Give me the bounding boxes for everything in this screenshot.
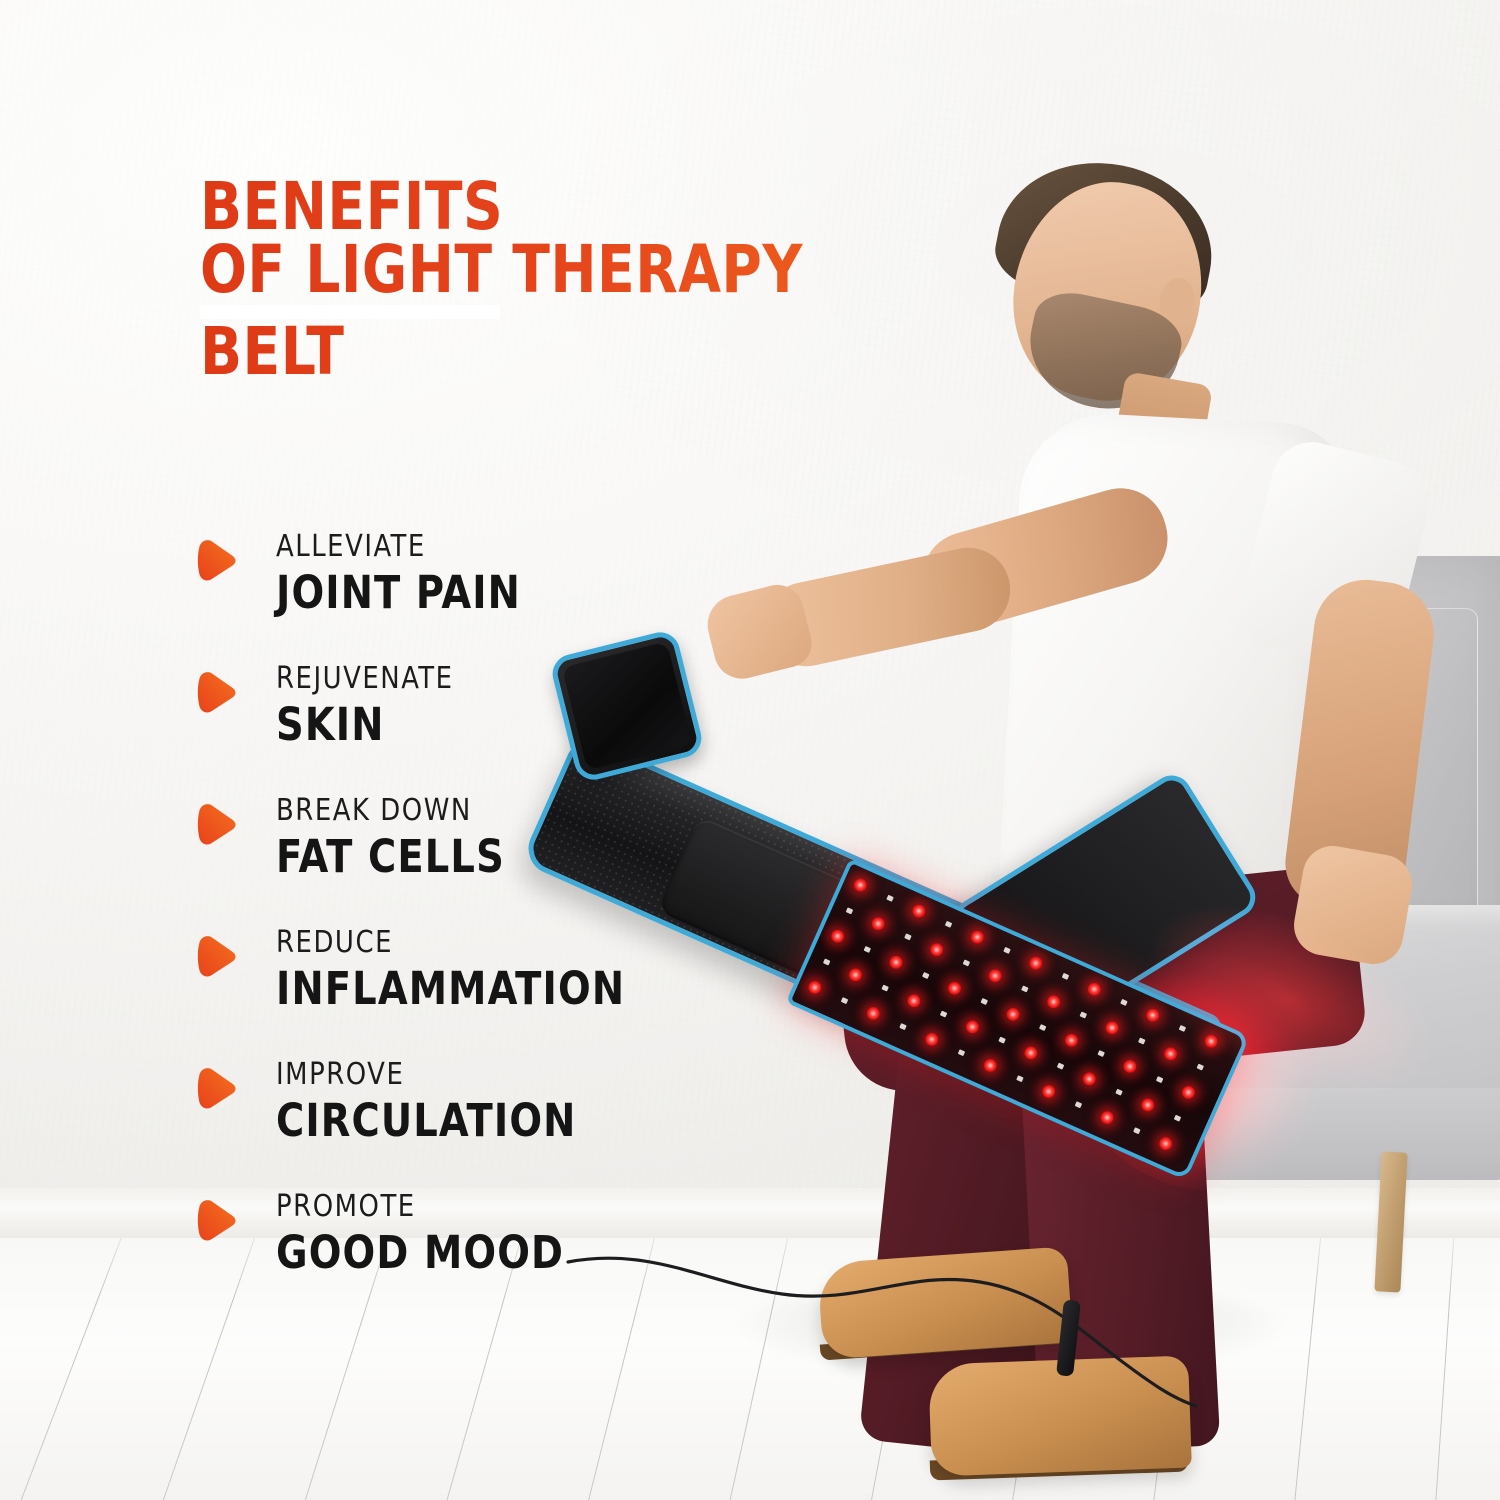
- led-light: [987, 967, 1004, 984]
- led-light: [847, 966, 864, 983]
- floor-plank-line: [0, 1238, 5, 1500]
- led-light: [1139, 1096, 1156, 1113]
- led-chip: [1156, 1076, 1164, 1083]
- led-light: [928, 941, 945, 958]
- led-chip: [922, 972, 930, 979]
- benefit-item: ALLEVIATEJOINT PAIN: [192, 534, 812, 666]
- led-chip: [958, 1049, 966, 1056]
- headline-line-1: BENEFITS: [200, 176, 963, 239]
- benefit-text: REDUCEINFLAMMATION: [276, 924, 644, 1013]
- led-chip: [886, 895, 894, 902]
- led-light: [1099, 1109, 1116, 1126]
- benefit-lead-label: PROMOTE: [276, 1188, 567, 1226]
- triangle-right-icon: [192, 538, 238, 582]
- benefit-emphasis-label: FAT CELLS: [276, 832, 505, 882]
- benefit-emphasis-label: CIRCULATION: [276, 1096, 577, 1146]
- led-chip: [823, 959, 831, 966]
- led-chip: [1174, 1115, 1182, 1122]
- led-chip: [904, 933, 912, 940]
- benefit-emphasis-label: GOOD MOOD: [276, 1228, 564, 1278]
- benefit-text: REJUVENATESKIN: [276, 660, 461, 749]
- led-chip: [963, 959, 971, 966]
- benefit-text: PROMOTEGOOD MOOD: [276, 1188, 579, 1277]
- benefit-item: REJUVENATESKIN: [192, 666, 812, 798]
- benefit-text: BREAK DOWNFAT CELLS: [276, 792, 517, 881]
- triangle-right-icon: [192, 1066, 238, 1110]
- led-chip: [1003, 947, 1011, 954]
- headline-line-3: BELT: [200, 321, 963, 384]
- benefit-item: IMPROVECIRCULATION: [192, 1062, 812, 1194]
- led-light: [829, 928, 846, 945]
- triangle-right-icon: [192, 934, 238, 978]
- led-chip: [899, 1023, 907, 1030]
- led-light: [865, 1005, 882, 1022]
- led-light: [1063, 1032, 1080, 1049]
- led-chip: [1039, 1024, 1047, 1031]
- led-light: [905, 992, 922, 1009]
- headline-line-2: OF LIGHT THERAPY: [200, 239, 963, 302]
- led-light: [1027, 955, 1044, 972]
- led-chip: [846, 907, 854, 914]
- led-chip: [1097, 1050, 1105, 1057]
- led-chip: [1075, 1101, 1083, 1108]
- led-chip: [980, 998, 988, 1005]
- triangle-right-icon: [192, 802, 238, 846]
- benefit-lead-label: BREAK DOWN: [276, 792, 507, 830]
- benefit-text: IMPROVECIRCULATION: [276, 1056, 592, 1145]
- benefits-list: ALLEVIATEJOINT PAINREJUVENATESKINBREAK D…: [192, 534, 812, 1326]
- floor-plank-line: [0, 1238, 137, 1500]
- benefit-item: REDUCEINFLAMMATION: [192, 930, 812, 1062]
- led-light: [969, 929, 986, 946]
- led-light: [1040, 1083, 1057, 1100]
- led-chip: [841, 997, 849, 1004]
- led-chip: [945, 921, 953, 928]
- benefit-emphasis-label: JOINT PAIN: [276, 568, 521, 618]
- person-shoe: [817, 1246, 1073, 1359]
- triangle-right-icon: [192, 670, 238, 714]
- led-chip: [998, 1037, 1006, 1044]
- led-light: [1121, 1058, 1138, 1075]
- led-chip: [864, 946, 872, 953]
- benefit-item: BREAK DOWNFAT CELLS: [192, 798, 812, 930]
- led-chip: [1021, 985, 1029, 992]
- led-light: [1022, 1044, 1039, 1061]
- benefit-emphasis-label: SKIN: [276, 700, 452, 750]
- led-chip: [881, 985, 889, 992]
- benefit-item: PROMOTEGOOD MOOD: [192, 1194, 812, 1326]
- led-light: [870, 915, 887, 932]
- led-light: [1157, 1135, 1174, 1152]
- led-light: [964, 1018, 981, 1035]
- led-chip: [1133, 1127, 1141, 1134]
- triangle-right-icon: [192, 1198, 238, 1242]
- benefit-lead-label: ALLEVIATE: [276, 528, 524, 566]
- led-light: [1081, 1070, 1098, 1087]
- infographic-canvas: BENEFITS OF LIGHT THERAPY BELT ALLEVIATE…: [0, 0, 1500, 1500]
- page-title: BENEFITS OF LIGHT THERAPY BELT: [200, 176, 1020, 384]
- benefit-lead-label: REDUCE: [276, 924, 629, 962]
- led-chip: [1115, 1089, 1123, 1096]
- led-chip: [940, 1011, 948, 1018]
- led-light: [1180, 1084, 1197, 1101]
- led-light: [887, 954, 904, 971]
- led-light: [852, 876, 869, 893]
- benefit-text: ALLEVIATEJOINT PAIN: [276, 528, 534, 617]
- led-chip: [1057, 1063, 1065, 1070]
- led-light: [910, 903, 927, 920]
- benefit-lead-label: IMPROVE: [276, 1056, 580, 1094]
- led-light: [1004, 1006, 1021, 1023]
- benefit-lead-label: REJUVENATE: [276, 660, 453, 698]
- led-light: [946, 980, 963, 997]
- led-light: [923, 1031, 940, 1048]
- benefit-emphasis-label: INFLAMMATION: [276, 964, 625, 1014]
- led-light: [982, 1057, 999, 1074]
- led-chip: [1016, 1075, 1024, 1082]
